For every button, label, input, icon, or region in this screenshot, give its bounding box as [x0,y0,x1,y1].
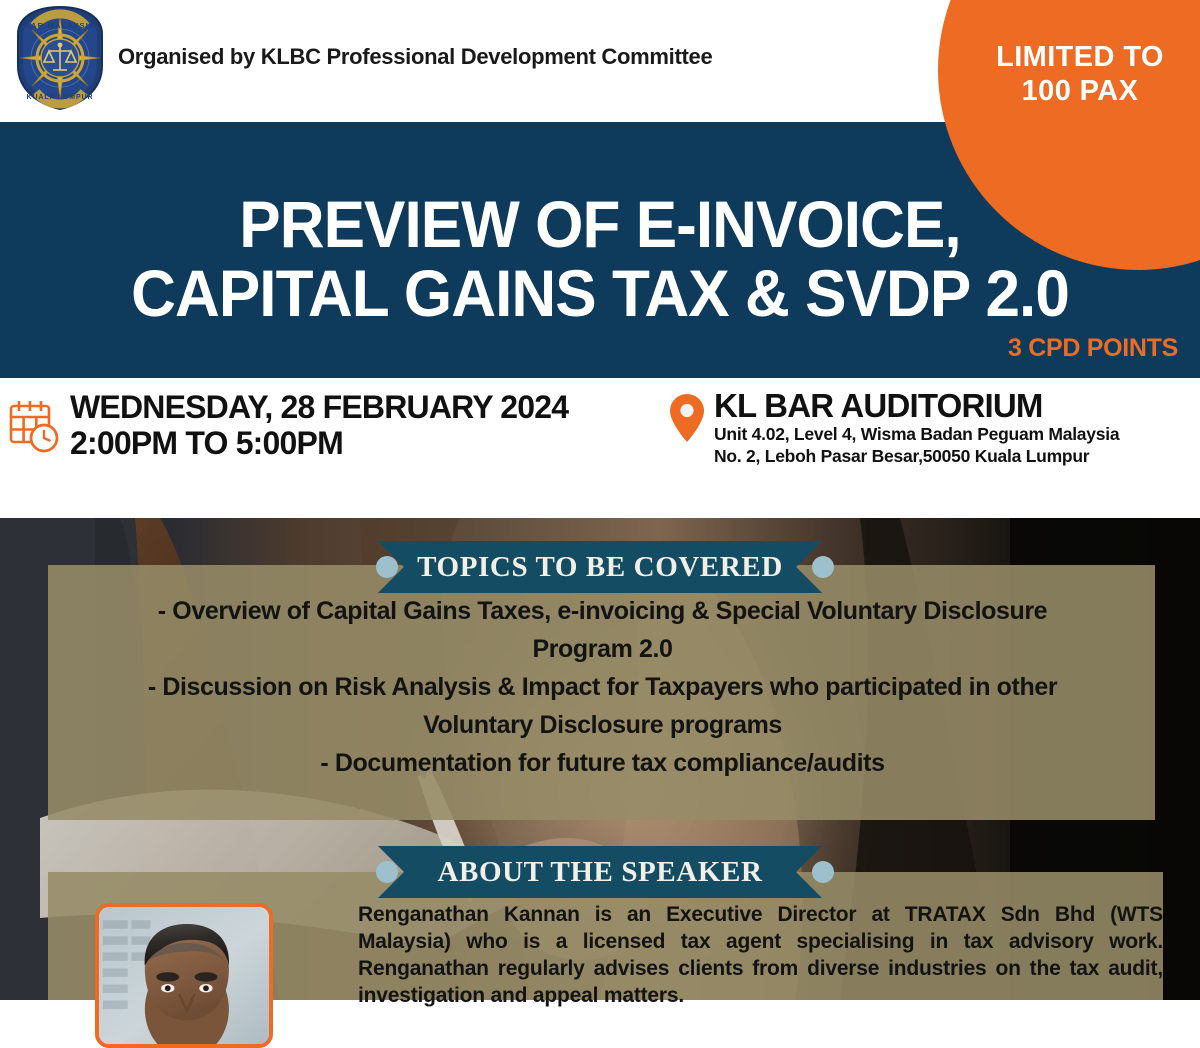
badge-line-2: 100 PAX [960,74,1200,108]
topics-heading: TOPICS TO BE COVERED [417,551,783,584]
topic-line-5: - Documentation for future tax complianc… [60,744,1145,782]
speaker-heading: ABOUT THE SPEAKER [438,856,763,889]
bar-malaysia-logo: BAR MALAYSIA KUALA LUMPUR [12,4,108,112]
topic-line-3: - Discussion on Risk Analysis & Impact f… [60,668,1145,706]
speaker-bio-text: Renganathan Kannan is an Executive Direc… [358,901,1163,1009]
topic-line-2: Program 2.0 [60,630,1145,668]
title-line-2: CAPITAL GAINS TAX & SVDP 2.0 [36,259,1164,328]
event-info-strip: WEDNESDAY, 28 FEBRUARY 2024 2:00PM TO 5:… [0,378,1200,518]
location-pin-icon [668,392,706,444]
calendar-clock-icon [8,398,60,454]
venue-address-line-2: No. 2, Leboh Pasar Besar,50050 Kuala Lum… [714,446,1119,468]
event-date: WEDNESDAY, 28 FEBRUARY 2024 [70,390,568,426]
logo-text-bottom: KUALA LUMPUR [27,94,94,101]
ribbon-dot-right-speaker [812,861,834,883]
ribbon-dot-right-topics [812,556,834,578]
topic-line-1: - Overview of Capital Gains Taxes, e-inv… [60,592,1145,630]
organiser-text: Organised by KLBC Professional Developme… [118,44,712,70]
date-time-block: WEDNESDAY, 28 FEBRUARY 2024 2:00PM TO 5:… [8,390,568,462]
emblem-icon: BAR MALAYSIA KUALA LUMPUR [12,4,108,112]
speaker-photo [95,903,273,1048]
limited-capacity-badge: LIMITED TO 100 PAX [960,40,1200,108]
speaker-ribbon-banner: ABOUT THE SPEAKER [378,846,822,898]
event-time: 2:00PM TO 5:00PM [70,426,568,462]
topics-ribbon-banner: TOPICS TO BE COVERED [378,541,822,593]
venue-block: KL BAR AUDITORIUM Unit 4.02, Level 4, Wi… [668,388,1119,468]
speaker-portrait-image [99,907,269,1044]
venue-address-line-1: Unit 4.02, Level 4, Wisma Badan Peguam M… [714,424,1119,446]
topics-list: - Overview of Capital Gains Taxes, e-inv… [60,592,1145,782]
venue-name: KL BAR AUDITORIUM [714,388,1119,424]
badge-line-1: LIMITED TO [960,40,1200,74]
topic-line-4: Voluntary Disclosure programs [60,706,1145,744]
ribbon-dot-left-speaker [376,861,398,883]
cpd-points-label: 3 CPD POINTS [1008,334,1178,363]
ribbon-dot-left-topics [376,556,398,578]
